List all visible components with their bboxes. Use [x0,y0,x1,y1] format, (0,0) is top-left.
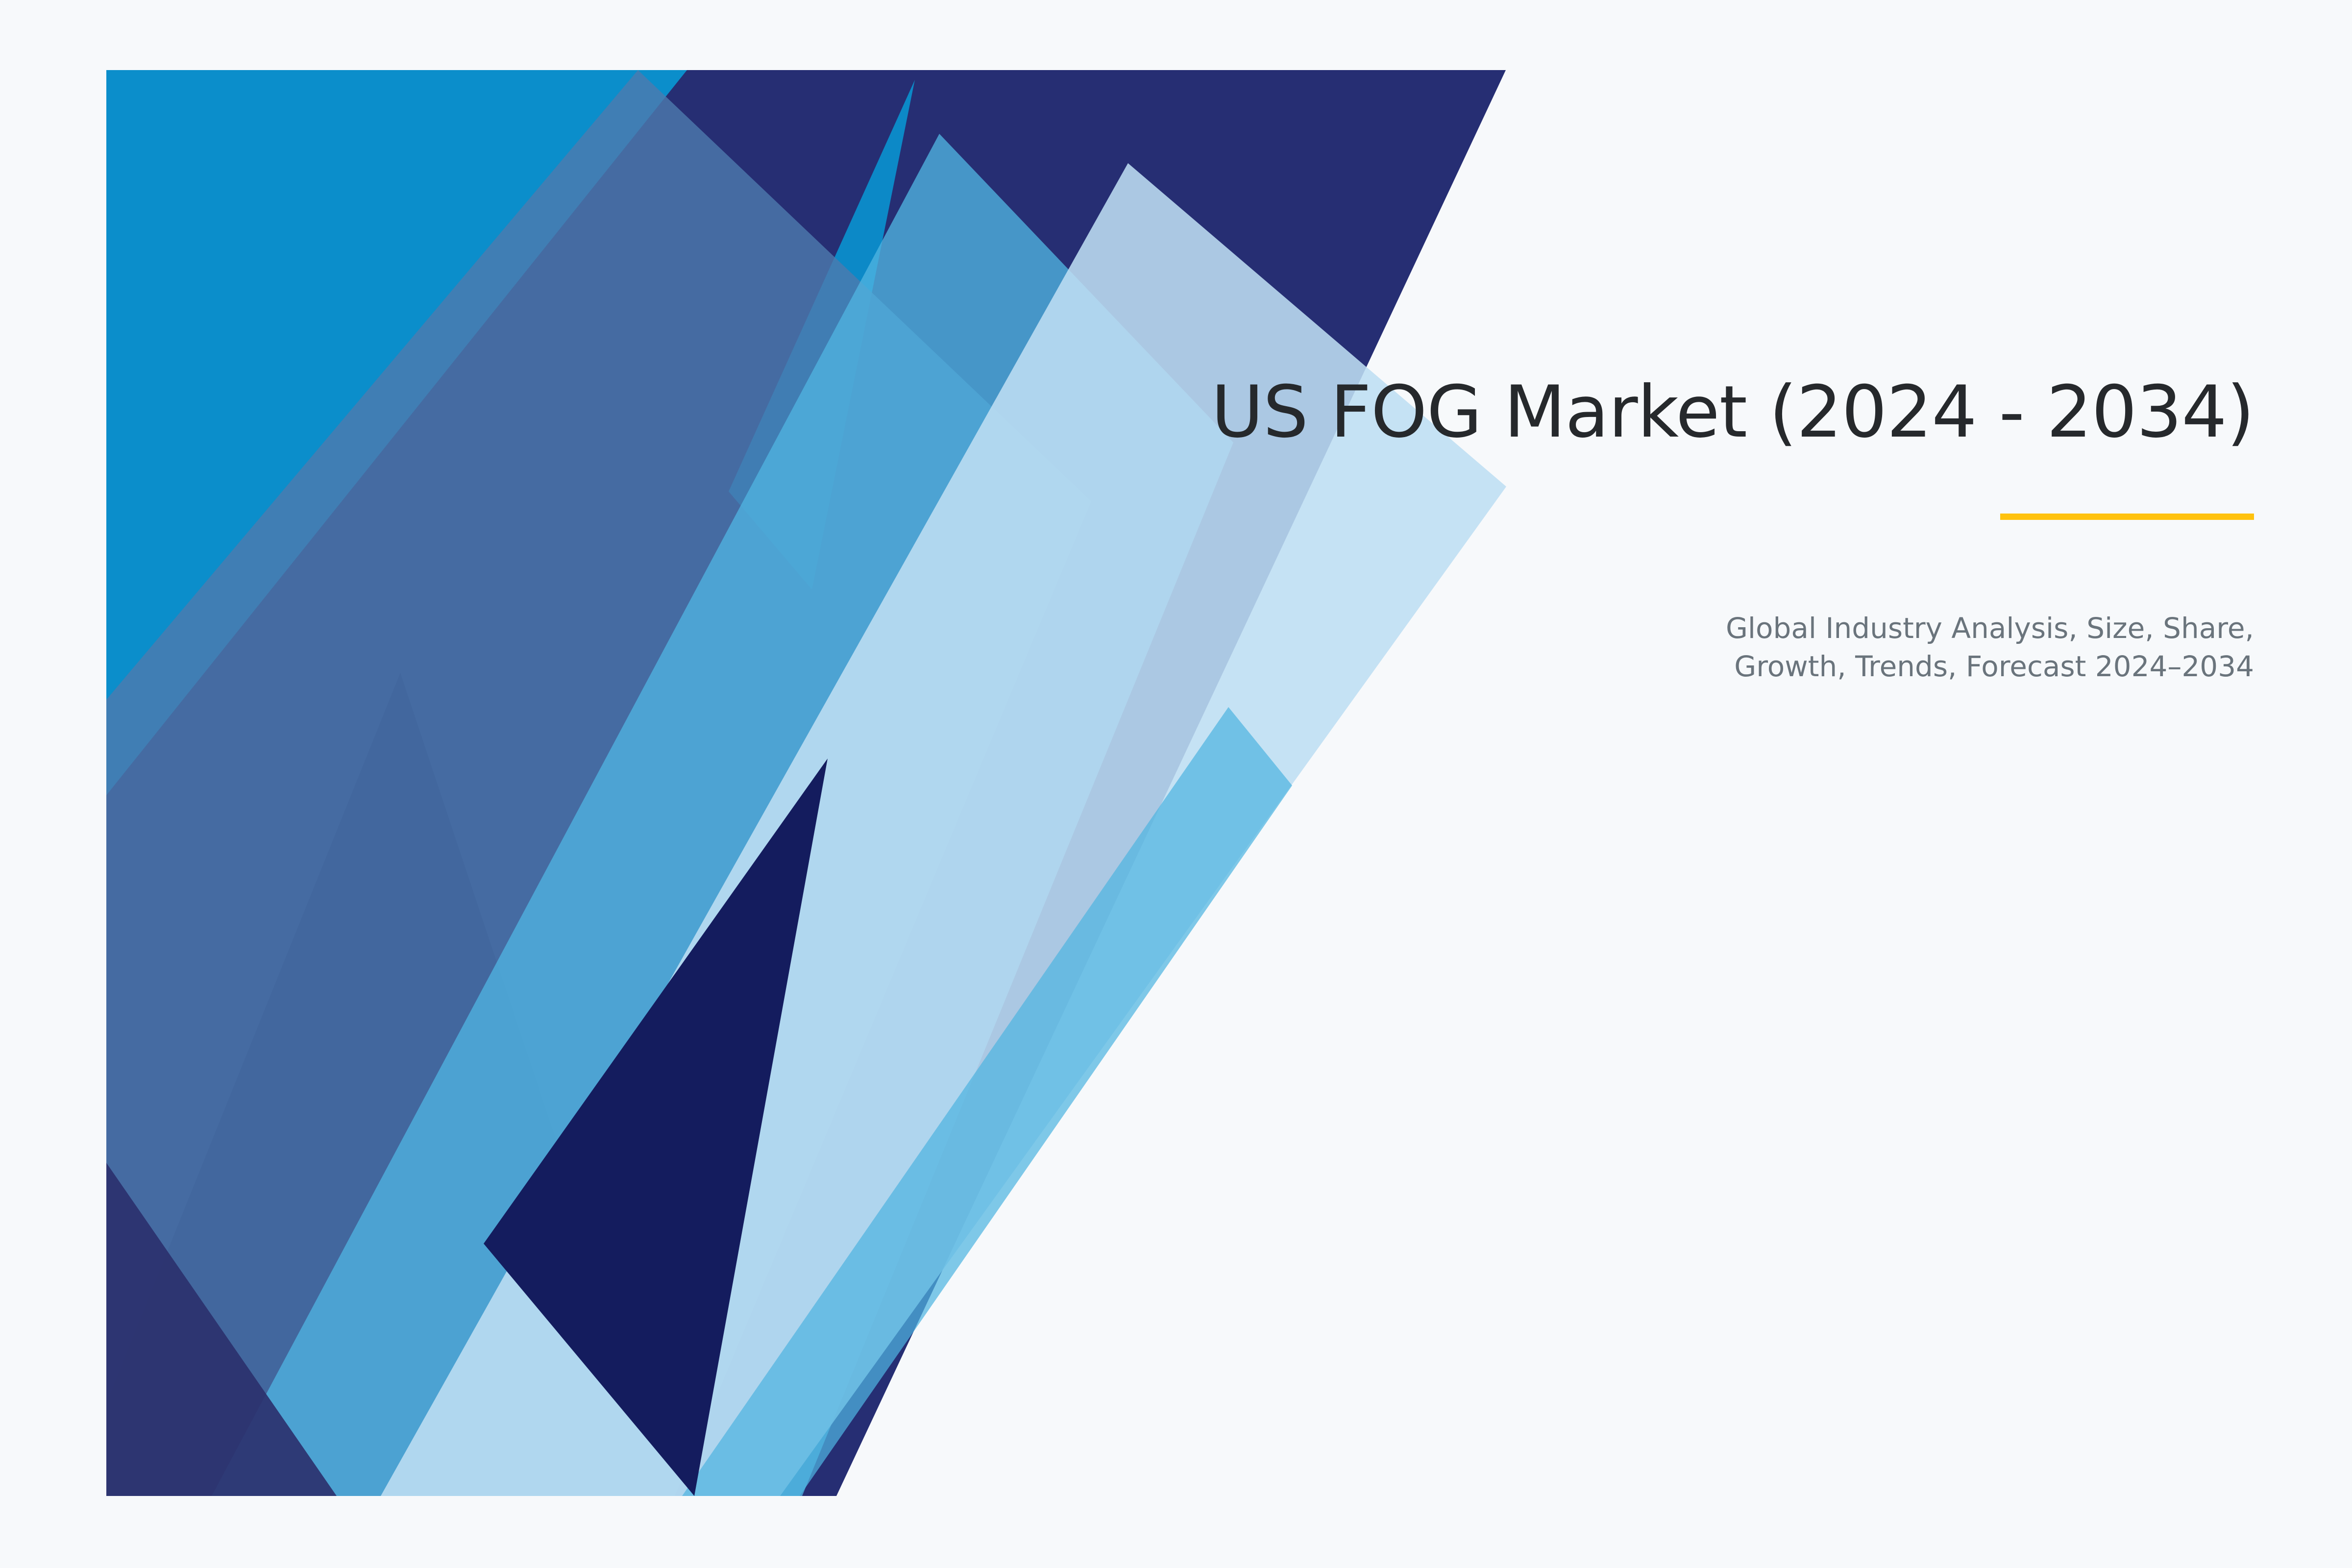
abstract-geometric-banner [106,70,1506,1496]
page-title: US FOG Market (2024 - 2034) [1117,372,2254,453]
cover-slide: US FOG Market (2024 - 2034) Global Indus… [0,0,2352,1568]
accent-rule [2000,514,2254,520]
page-subtitle-line-2: Growth, Trends, Forecast 2024–2034 [1734,650,2254,683]
accent-rule-container [1117,514,2254,520]
page-subtitle-line-1: Global Industry Analysis, Size, Share, [1726,612,2254,645]
cover-text-block: US FOG Market (2024 - 2034) Global Indus… [1117,372,2254,686]
page-subtitle: Global Industry Analysis, Size, Share, G… [1117,609,2254,686]
